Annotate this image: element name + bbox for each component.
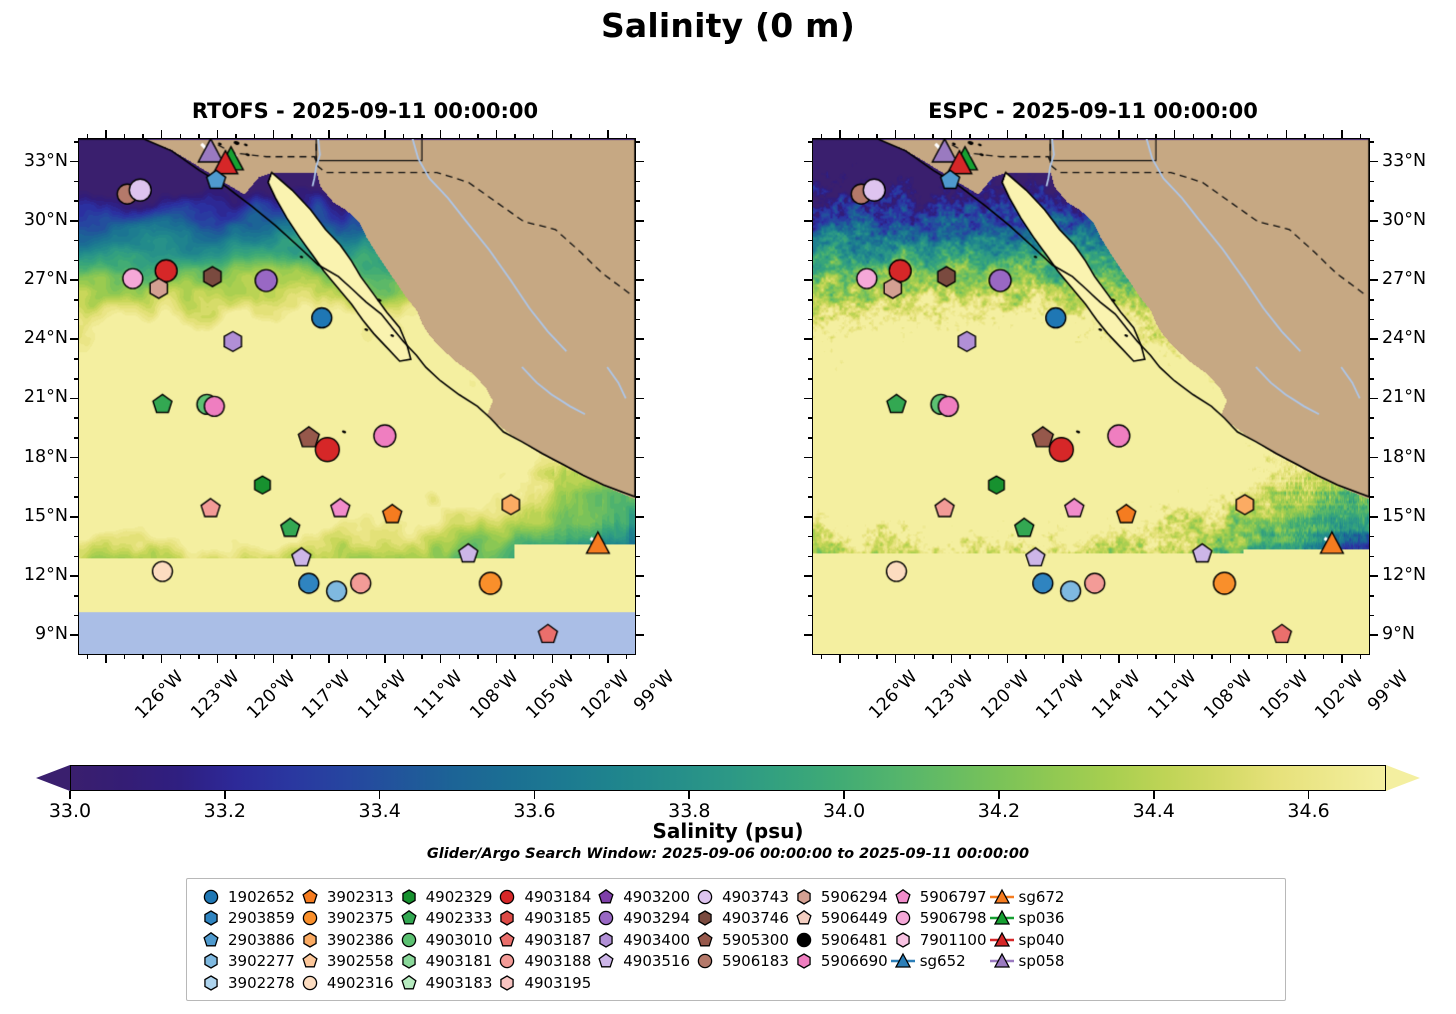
legend-marker-icon xyxy=(690,908,720,929)
legend-item[interactable]: 4903400 xyxy=(591,929,690,951)
lon-tick xyxy=(858,134,860,138)
lat-tick xyxy=(808,536,812,538)
legend-item[interactable]: sp058 xyxy=(987,951,1065,973)
lat-tick-label: 15°N xyxy=(1382,506,1426,526)
lon-tick xyxy=(142,655,144,659)
lat-tick xyxy=(74,358,78,360)
lon-tick xyxy=(161,655,163,663)
lon-tick xyxy=(366,655,368,659)
lon-tick xyxy=(291,655,293,659)
lon-tick xyxy=(124,655,126,659)
lon-tick xyxy=(533,655,535,659)
lon-tick xyxy=(552,130,554,138)
legend-item[interactable]: 4902316 xyxy=(295,972,394,994)
lat-tick xyxy=(74,556,78,558)
lat-tick xyxy=(808,200,812,202)
legend-item[interactable]: 4903200 xyxy=(591,886,690,908)
legend-item[interactable]: 4903294 xyxy=(591,908,690,930)
lat-tick xyxy=(636,595,640,597)
lat-tick xyxy=(74,496,78,498)
lon-tick xyxy=(1304,134,1306,138)
legend-item-label: 7901100 xyxy=(918,931,987,949)
lon-tick xyxy=(514,134,516,138)
lat-tick-label: 15°N xyxy=(0,506,68,526)
lon-tick xyxy=(570,134,572,138)
legend-item[interactable]: 4903195 xyxy=(492,972,591,994)
lon-tick xyxy=(589,134,591,138)
legend-marker-icon xyxy=(295,972,325,993)
lat-tick xyxy=(636,477,640,479)
lat-tick xyxy=(1370,378,1374,380)
lat-tick xyxy=(1370,319,1374,321)
lat-tick-label: 21°N xyxy=(1382,387,1426,407)
lat-tick xyxy=(636,220,644,222)
lon-tick xyxy=(310,134,312,138)
lon-tick xyxy=(876,134,878,138)
lon-tick-label: 117°W xyxy=(1033,667,1089,723)
lon-tick xyxy=(1304,655,1306,659)
lon-tick-label: 111°W xyxy=(410,667,466,723)
lon-tick xyxy=(1062,130,1064,138)
lon-tick xyxy=(310,655,312,659)
lat-tick-label: 21°N xyxy=(0,387,68,407)
legend-marker-icon xyxy=(196,929,226,950)
legend-marker-icon xyxy=(591,908,621,929)
legend-column: sg672sp036sp040sp058 xyxy=(987,886,1065,994)
legend-item-label: 4903195 xyxy=(522,974,591,992)
lat-tick xyxy=(808,595,812,597)
legend-marker-icon xyxy=(789,951,819,972)
legend-item-label: 5906690 xyxy=(819,952,888,970)
legend-item[interactable]: 4903184 xyxy=(492,886,591,908)
lat-tick xyxy=(804,516,812,518)
legend-item[interactable]: 5906183 xyxy=(690,951,789,973)
lat-tick xyxy=(636,417,640,419)
figure-title: Salinity (0 m) xyxy=(0,6,1456,45)
legend-marker-icon xyxy=(196,886,226,907)
panel-title-espc: ESPC - 2025-09-11 00:00:00 xyxy=(798,99,1388,123)
lat-tick-label: 12°N xyxy=(0,565,68,585)
lat-tick xyxy=(74,299,78,301)
legend-item[interactable]: sp036 xyxy=(987,908,1065,930)
lon-tick xyxy=(198,134,200,138)
lon-tick xyxy=(1248,655,1250,659)
legend-item-label: 1902652 xyxy=(226,888,295,906)
legend-marker-icon xyxy=(492,972,522,993)
lon-tick xyxy=(1118,130,1120,138)
lat-tick xyxy=(808,417,812,419)
lon-tick xyxy=(496,130,498,138)
lon-tick xyxy=(932,134,934,138)
legend-item[interactable]: 5906481 xyxy=(789,929,888,951)
legend-item-label: sp036 xyxy=(1017,909,1065,927)
lon-tick xyxy=(1323,655,1325,659)
lon-tick xyxy=(1267,134,1269,138)
lon-tick xyxy=(142,134,144,138)
lat-tick xyxy=(1370,615,1374,617)
lon-tick xyxy=(1248,134,1250,138)
lon-tick xyxy=(105,655,107,663)
legend-item[interactable]: sg672 xyxy=(987,886,1065,908)
legend-item-label: 5906797 xyxy=(918,888,987,906)
lat-tick xyxy=(636,200,640,202)
lat-tick-label: 30°N xyxy=(1382,210,1426,230)
lon-tick xyxy=(421,134,423,138)
lon-tick xyxy=(1360,134,1362,138)
lon-tick xyxy=(1137,655,1139,659)
legend-item-label: sg672 xyxy=(1017,888,1065,906)
legend-marker-icon xyxy=(394,908,424,929)
lon-tick xyxy=(1323,134,1325,138)
legend-item-label: 4903184 xyxy=(522,888,591,906)
lon-tick xyxy=(1137,134,1139,138)
legend-item[interactable]: 5906294 xyxy=(789,886,888,908)
lon-tick xyxy=(1193,655,1195,659)
lat-tick xyxy=(804,457,812,459)
lat-tick xyxy=(804,634,812,636)
lat-tick xyxy=(636,260,640,262)
lat-tick xyxy=(1370,220,1378,222)
lat-tick xyxy=(636,161,644,163)
lon-tick xyxy=(988,134,990,138)
lat-tick xyxy=(804,575,812,577)
lat-tick xyxy=(804,279,812,281)
legend-item[interactable]: 4903183 xyxy=(394,972,493,994)
lat-tick-label: 9°N xyxy=(1382,624,1415,644)
legend-item[interactable]: 4902333 xyxy=(394,908,493,930)
lat-tick xyxy=(70,398,78,400)
lat-tick-label: 27°N xyxy=(1382,269,1426,289)
legend-item[interactable]: 4903516 xyxy=(591,951,690,973)
lon-tick xyxy=(951,130,953,138)
colorbar-tick xyxy=(534,791,536,799)
lon-tick-label: 114°W xyxy=(1089,667,1145,723)
lon-tick xyxy=(1211,134,1213,138)
legend-item-label: sp058 xyxy=(1017,952,1065,970)
lon-tick xyxy=(273,655,275,663)
legend-item[interactable]: 4903010 xyxy=(394,929,493,951)
legend-item[interactable]: 3902558 xyxy=(295,951,394,973)
lat-tick xyxy=(1370,161,1378,163)
lon-tick xyxy=(1062,655,1064,663)
lat-tick xyxy=(70,575,78,577)
legend-item-label: 4903746 xyxy=(720,909,789,927)
lat-tick xyxy=(1370,200,1374,202)
lat-tick xyxy=(636,437,640,439)
legend-item-label: 4903294 xyxy=(621,909,690,927)
lat-tick xyxy=(636,556,640,558)
legend-item-label: 4903181 xyxy=(424,952,493,970)
legend-item-label: 3902277 xyxy=(226,952,295,970)
lon-tick xyxy=(969,134,971,138)
lon-tick-label: 120°W xyxy=(977,667,1033,723)
legend-item-label: 5906449 xyxy=(819,909,888,927)
lat-tick xyxy=(1370,556,1374,558)
legend-column: 590679759067987901100sg652 xyxy=(888,886,987,994)
lat-tick xyxy=(804,338,812,340)
legend-marker-icon xyxy=(196,972,226,993)
lon-tick-label: 102°W xyxy=(578,667,634,723)
map-panel-espc[interactable] xyxy=(812,138,1370,655)
lat-tick-label: 33°N xyxy=(1382,151,1426,171)
lat-tick xyxy=(74,260,78,262)
legend-marker-icon xyxy=(987,886,1017,907)
legend-item[interactable]: 3902278 xyxy=(196,972,295,994)
legend-item[interactable]: 4903181 xyxy=(394,951,493,973)
legend-marker-icon xyxy=(196,908,226,929)
legend-item[interactable]: sg652 xyxy=(888,951,987,973)
lon-tick xyxy=(932,655,934,659)
lon-tick xyxy=(914,655,916,659)
lon-tick xyxy=(477,134,479,138)
legend-column: 49023294902333490301049031814903183 xyxy=(394,886,493,994)
lat-tick xyxy=(636,575,644,577)
legend-item[interactable]: 3902386 xyxy=(295,929,394,951)
legend-item[interactable]: 5906690 xyxy=(789,951,888,973)
lat-tick xyxy=(74,378,78,380)
legend-marker-icon xyxy=(987,951,1017,972)
lat-tick xyxy=(808,240,812,242)
legend-item-label: 5906294 xyxy=(819,888,888,906)
lat-tick xyxy=(636,634,644,636)
legend-item[interactable]: sp040 xyxy=(987,929,1065,951)
legend-item-label: 2903859 xyxy=(226,909,295,927)
legend-item-label: 4902329 xyxy=(424,888,493,906)
lat-tick xyxy=(1370,398,1378,400)
lon-tick xyxy=(87,134,89,138)
lon-tick xyxy=(384,655,386,663)
lon-tick xyxy=(876,655,878,659)
lat-tick xyxy=(1370,457,1378,459)
lat-tick xyxy=(636,279,644,281)
lon-tick xyxy=(235,134,237,138)
lon-tick xyxy=(403,134,405,138)
legend-item-label: 4903185 xyxy=(522,909,591,927)
legend-item-label: 3902375 xyxy=(325,909,394,927)
legend-item[interactable]: 3902277 xyxy=(196,951,295,973)
lat-tick xyxy=(636,299,640,301)
lat-tick xyxy=(70,161,78,163)
lon-tick xyxy=(403,655,405,659)
lat-tick xyxy=(636,181,640,183)
lat-tick xyxy=(1370,575,1378,577)
lat-tick-label: 24°N xyxy=(0,328,68,348)
lon-tick xyxy=(607,130,609,138)
lat-tick xyxy=(74,319,78,321)
lon-tick xyxy=(1286,130,1288,138)
legend-item[interactable]: 7901100 xyxy=(888,929,987,951)
lat-tick xyxy=(636,338,644,340)
lat-tick xyxy=(70,220,78,222)
lon-tick xyxy=(570,655,572,659)
legend-marker-icon xyxy=(888,951,918,972)
legend-item[interactable]: 3902375 xyxy=(295,908,394,930)
lon-tick xyxy=(1230,130,1232,138)
lat-tick xyxy=(804,161,812,163)
lat-tick-label: 30°N xyxy=(0,210,68,230)
lon-tick xyxy=(328,130,330,138)
lon-tick xyxy=(626,134,628,138)
legend-item[interactable]: 4903185 xyxy=(492,908,591,930)
lon-tick xyxy=(198,655,200,659)
lon-tick-label: 111°W xyxy=(1144,667,1200,723)
colorbar-extend-low-arrow xyxy=(36,765,70,791)
lon-tick-label: 126°W xyxy=(865,667,921,723)
lat-tick xyxy=(74,477,78,479)
lon-tick xyxy=(1267,655,1269,659)
legend-item[interactable]: 1902652 xyxy=(196,886,295,908)
lat-tick xyxy=(1370,338,1378,340)
legend-column: 19026522903859290388639022773902278 xyxy=(196,886,295,994)
legend-marker-icon xyxy=(789,886,819,907)
lon-tick-label: 99°W xyxy=(1364,667,1412,715)
lon-tick xyxy=(1081,655,1083,659)
lon-tick xyxy=(347,134,349,138)
lon-tick xyxy=(895,655,897,663)
lon-tick xyxy=(1230,655,1232,663)
lon-tick xyxy=(1286,655,1288,663)
lon-tick xyxy=(1007,655,1009,663)
lat-tick xyxy=(1370,279,1378,281)
legend-item[interactable]: 2903886 xyxy=(196,929,295,951)
legend-marker-icon xyxy=(492,908,522,929)
legend-marker-icon xyxy=(987,929,1017,950)
legend-item[interactable]: 3902313 xyxy=(295,886,394,908)
lat-tick xyxy=(804,220,812,222)
legend-item[interactable]: 5906798 xyxy=(888,908,987,930)
lat-tick xyxy=(1370,516,1378,518)
lat-tick xyxy=(1370,240,1374,242)
lon-tick xyxy=(858,655,860,659)
lat-tick xyxy=(74,141,78,143)
legend-item-label: 4903516 xyxy=(621,952,690,970)
legend-item-label: sp040 xyxy=(1017,931,1065,949)
lat-tick xyxy=(636,516,644,518)
lat-tick xyxy=(1370,417,1374,419)
lon-tick xyxy=(180,655,182,659)
legend-marker-icon xyxy=(591,951,621,972)
lat-tick xyxy=(1370,477,1374,479)
lat-tick xyxy=(1370,181,1374,183)
lon-tick-label: 120°W xyxy=(243,667,299,723)
legend-marker-icon xyxy=(789,908,819,929)
legend-item[interactable]: 5905300 xyxy=(690,929,789,951)
colorbar-tick xyxy=(224,791,226,799)
lon-tick xyxy=(1174,130,1176,138)
legend-marker-icon xyxy=(888,886,918,907)
lon-tick xyxy=(1044,655,1046,659)
lon-tick xyxy=(821,655,823,659)
legend-marker-icon xyxy=(394,972,424,993)
lon-tick xyxy=(477,655,479,659)
map-panel-rtofs[interactable] xyxy=(78,138,636,655)
lon-tick xyxy=(254,134,256,138)
lat-tick xyxy=(74,200,78,202)
lon-tick xyxy=(1007,130,1009,138)
lat-tick xyxy=(808,260,812,262)
colorbar-extend-high-arrow xyxy=(1386,765,1420,791)
legend-item[interactable]: 4903746 xyxy=(690,908,789,930)
lon-tick xyxy=(1100,134,1102,138)
legend-item[interactable]: 5906797 xyxy=(888,886,987,908)
lat-tick xyxy=(1370,536,1374,538)
lon-tick-label: 105°W xyxy=(1256,667,1312,723)
lat-tick xyxy=(636,457,644,459)
lon-tick-label: 108°W xyxy=(466,667,522,723)
lat-tick xyxy=(74,615,78,617)
legend-marker-icon xyxy=(888,929,918,950)
colorbar-tick xyxy=(688,791,690,799)
legend-marker-icon xyxy=(888,908,918,929)
colorbar[interactable] xyxy=(36,765,1420,791)
lon-tick-label: 126°W xyxy=(131,667,187,723)
lat-tick xyxy=(808,299,812,301)
lon-tick xyxy=(1155,134,1157,138)
lon-tick xyxy=(440,130,442,138)
lat-tick xyxy=(636,358,640,360)
search-window-caption: Glider/Argo Search Window: 2025-09-06 00… xyxy=(0,846,1456,862)
legend-marker-icon xyxy=(394,886,424,907)
legend-item-label: sg652 xyxy=(918,952,966,970)
legend-item[interactable]: 4902329 xyxy=(394,886,493,908)
lon-tick xyxy=(105,130,107,138)
lat-tick-label: 24°N xyxy=(1382,328,1426,348)
lon-tick xyxy=(1044,134,1046,138)
lat-tick xyxy=(1370,141,1374,143)
lon-tick xyxy=(421,655,423,659)
lon-tick xyxy=(124,134,126,138)
legend-item[interactable]: 5906449 xyxy=(789,908,888,930)
legend-column: 49031844903185490318749031884903195 xyxy=(492,886,591,994)
colorbar-tick xyxy=(1153,791,1155,799)
colorbar-gradient xyxy=(70,765,1386,791)
lat-tick xyxy=(636,141,640,143)
lat-tick xyxy=(808,437,812,439)
lat-tick xyxy=(636,398,644,400)
lon-tick xyxy=(988,655,990,659)
legend-item[interactable]: 4903188 xyxy=(492,951,591,973)
lat-tick xyxy=(636,496,640,498)
lat-tick xyxy=(636,378,640,380)
lon-tick xyxy=(328,655,330,663)
lon-tick xyxy=(839,130,841,138)
lat-tick xyxy=(636,536,640,538)
lat-tick xyxy=(1370,358,1374,360)
colorbar-tick xyxy=(1308,791,1310,799)
legend-item-label: 5906798 xyxy=(918,909,987,927)
lon-tick xyxy=(291,134,293,138)
legend-item-label: 5905300 xyxy=(720,931,789,949)
lat-tick xyxy=(70,457,78,459)
legend-item[interactable]: 4903187 xyxy=(492,929,591,951)
legend-item-label: 3902313 xyxy=(325,888,394,906)
lon-tick xyxy=(235,655,237,659)
legend-item-label: 4903183 xyxy=(424,974,493,992)
lon-tick xyxy=(552,655,554,663)
platform-legend[interactable]: 1902652290385929038863902277390227839023… xyxy=(186,878,1286,1001)
lon-tick xyxy=(1025,134,1027,138)
legend-item-label: 3902386 xyxy=(325,931,394,949)
lon-tick xyxy=(1155,655,1157,659)
colorbar-tick xyxy=(379,791,381,799)
legend-item[interactable]: 2903859 xyxy=(196,908,295,930)
lat-tick xyxy=(808,378,812,380)
lon-tick xyxy=(87,655,89,659)
lat-tick xyxy=(1370,595,1374,597)
lon-tick xyxy=(254,655,256,659)
legend-marker-icon xyxy=(196,951,226,972)
legend-item[interactable]: 4903743 xyxy=(690,886,789,908)
